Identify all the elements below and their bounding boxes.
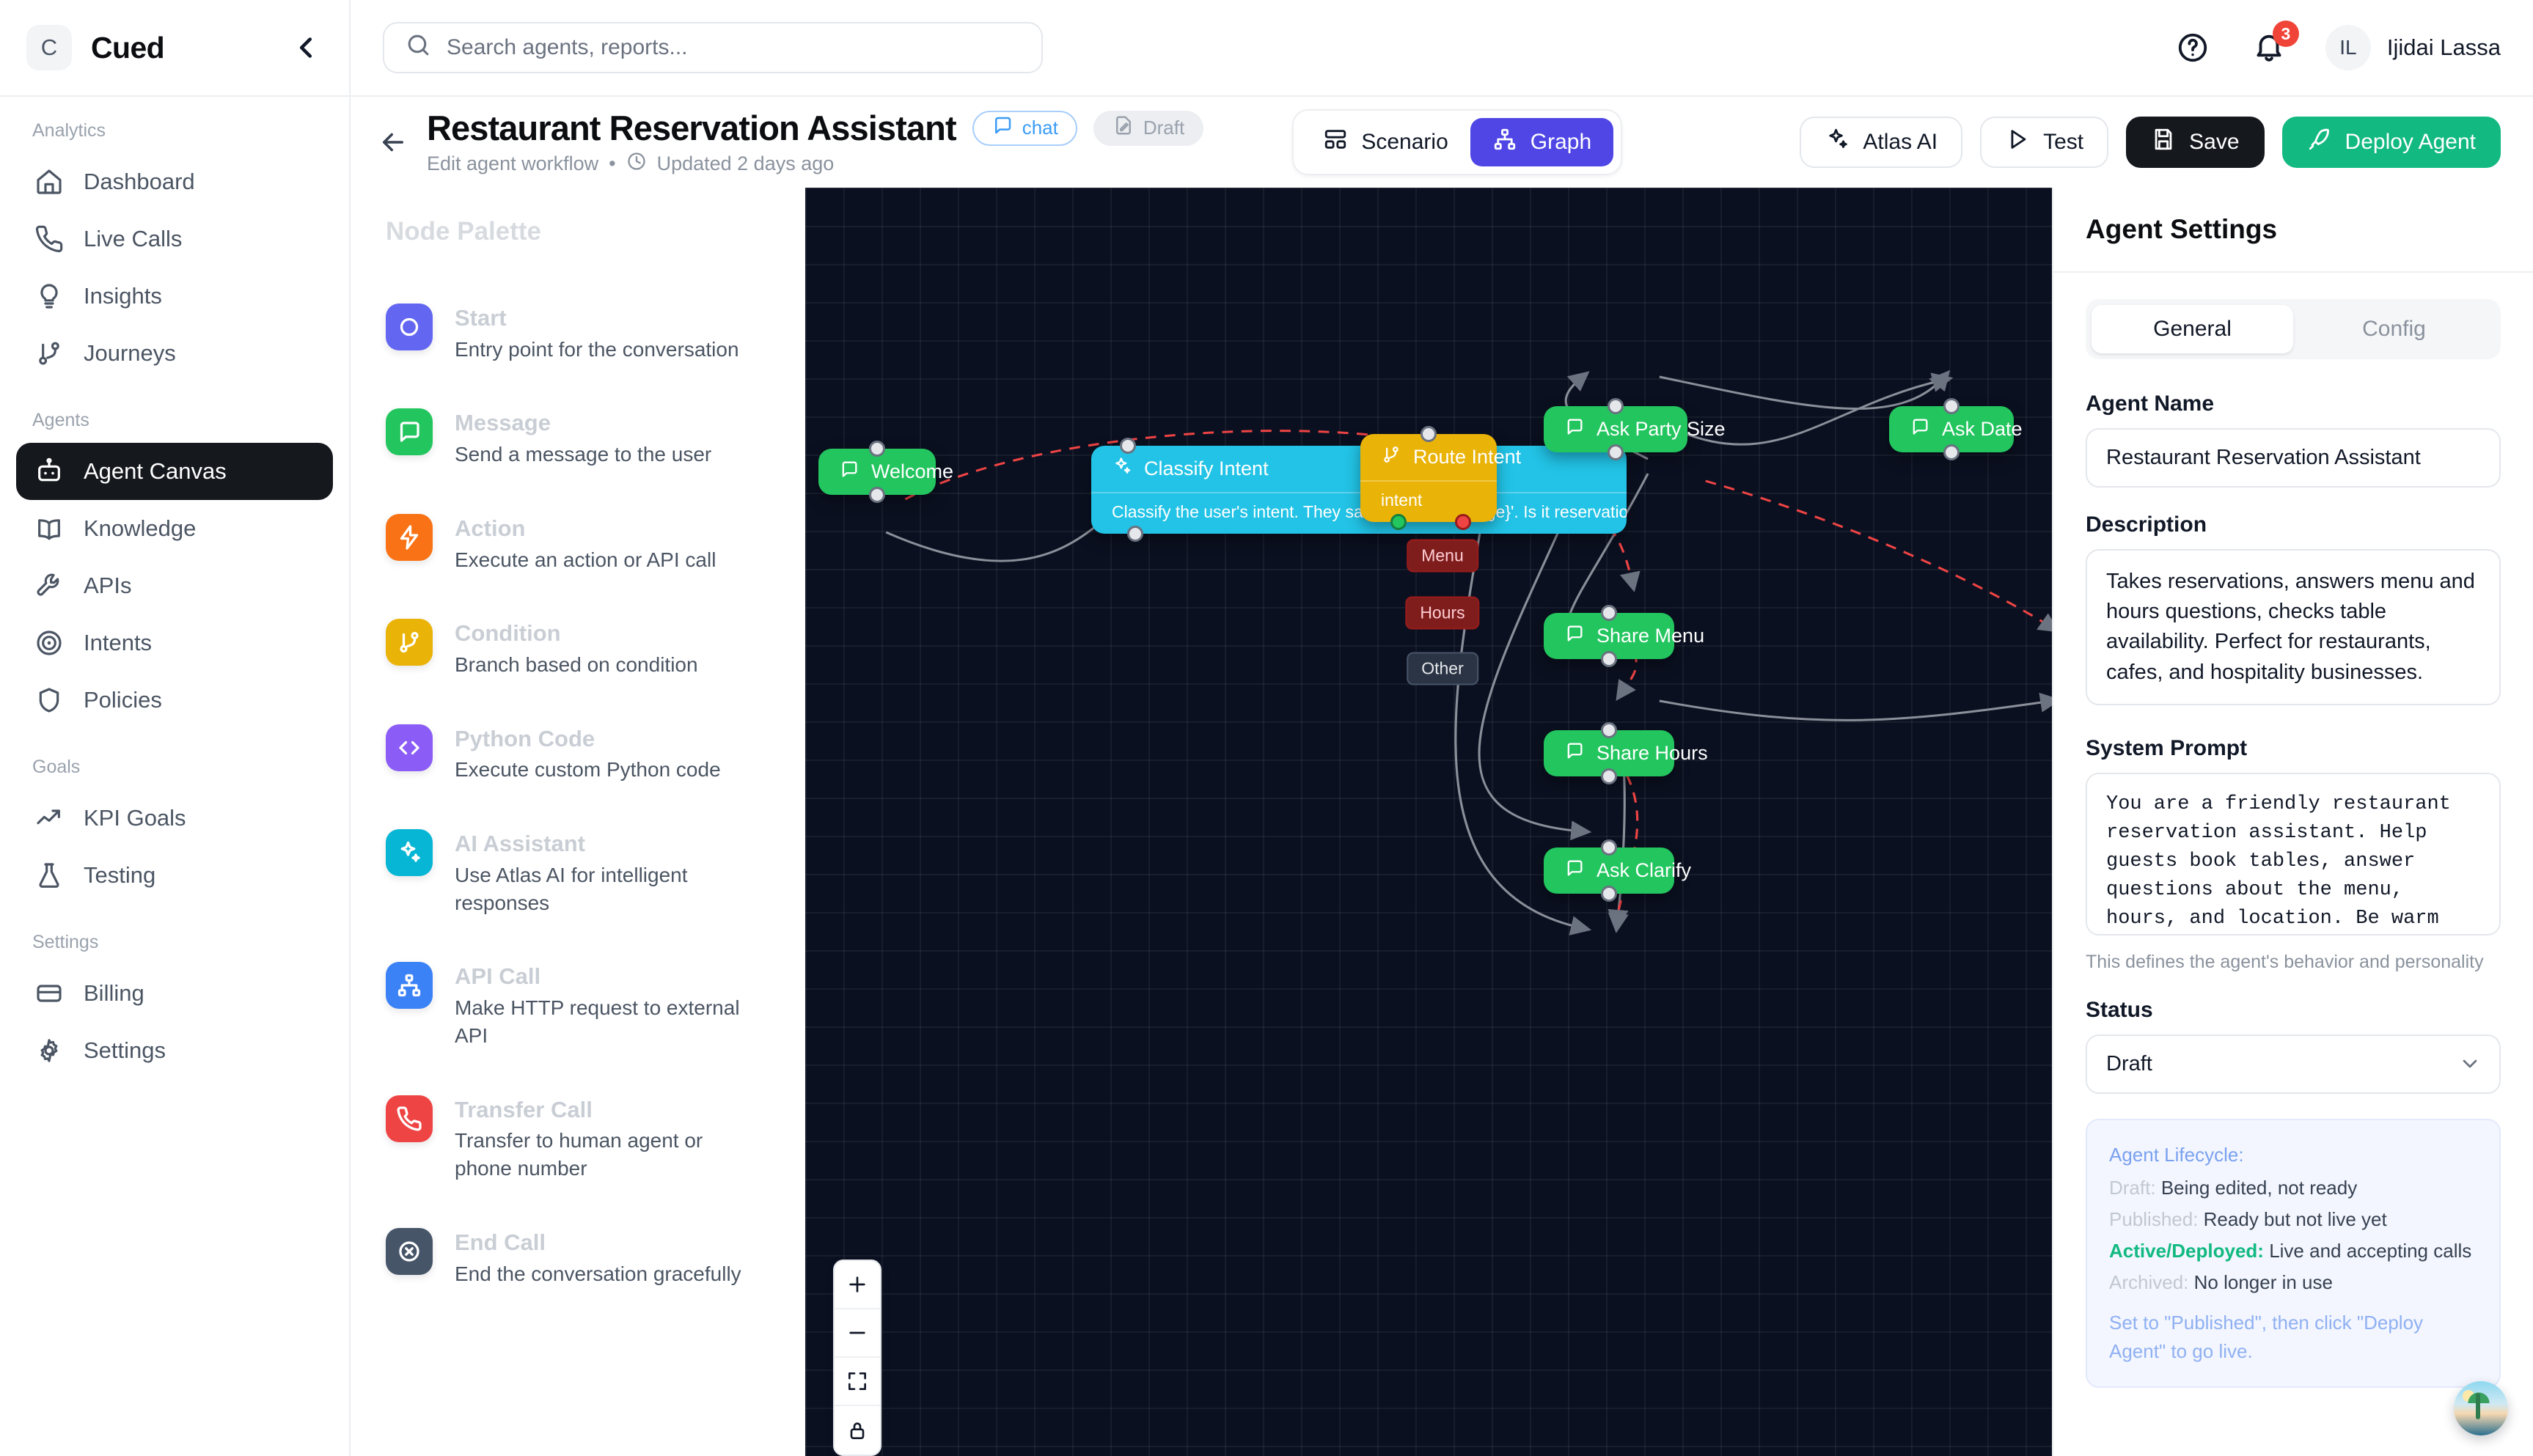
lifecycle-value: Being edited, not ready bbox=[2161, 1177, 2357, 1199]
bolt-icon bbox=[386, 514, 433, 561]
page-subtitle: Edit agent workflow • Updated 2 days ago bbox=[427, 151, 1203, 177]
palette-item-condition[interactable]: Condition Branch based on condition bbox=[386, 619, 773, 678]
node-title: Welcome bbox=[871, 460, 953, 483]
sidebar-item-journeys[interactable]: Journeys bbox=[16, 325, 333, 382]
lock-button[interactable] bbox=[835, 1406, 880, 1455]
system-prompt-textarea[interactable] bbox=[2086, 773, 2501, 935]
field-label: Agent Name bbox=[2086, 391, 2501, 416]
status-select[interactable] bbox=[2086, 1034, 2501, 1094]
sparkles-icon bbox=[386, 829, 433, 876]
chat-bubble-icon bbox=[1564, 858, 1585, 883]
atlas-ai-button[interactable]: Atlas AI bbox=[1800, 117, 1962, 168]
graph-node-ask-date[interactable]: Ask Date bbox=[1889, 406, 2014, 452]
robot-icon bbox=[34, 456, 65, 487]
palette-item-name: Transfer Call bbox=[455, 1097, 763, 1123]
user-name: Ijidai Lassa bbox=[2387, 34, 2501, 61]
edge-label-hours: Hours bbox=[1405, 597, 1479, 630]
layout-icon bbox=[1323, 127, 1348, 158]
main-area: Search agents, reports... 3 IL Ijidai La… bbox=[351, 0, 2533, 1456]
node-title: Ask Party Size bbox=[1597, 418, 1726, 441]
code-icon bbox=[386, 724, 433, 771]
git-branch-icon bbox=[1381, 444, 1401, 470]
palette-item-name: Condition bbox=[455, 620, 698, 647]
agent-settings-panel: Agent Settings General Config Agent Name… bbox=[2052, 188, 2533, 1456]
field-system-prompt: System Prompt This defines the agent's b… bbox=[2086, 736, 2501, 973]
palette-item-desc: Execute an action or API call bbox=[455, 546, 716, 574]
zoom-in-button[interactable] bbox=[835, 1261, 880, 1309]
topbar-right: 3 IL Ijidai Lassa bbox=[2173, 25, 2501, 70]
view-toggle: Scenario Graph bbox=[1292, 109, 1622, 175]
field-hint: This defines the agent's behavior and pe… bbox=[2086, 952, 2501, 973]
graph-canvas-wrapper: Welcome Classify Intent Clas bbox=[805, 188, 2052, 1456]
sidebar-item-apis[interactable]: APIs bbox=[16, 557, 333, 614]
graph-node-share-hours[interactable]: Share Hours bbox=[1544, 730, 1674, 776]
palette-item-name: Python Code bbox=[455, 726, 721, 752]
chat-bubble-icon bbox=[1564, 623, 1585, 649]
wrench-icon bbox=[34, 570, 65, 601]
test-button[interactable]: Test bbox=[1980, 117, 2108, 168]
node-input-port[interactable] bbox=[1421, 426, 1437, 442]
badge-label: chat bbox=[1022, 117, 1058, 139]
tab-config[interactable]: Config bbox=[2293, 305, 2495, 353]
shield-icon bbox=[34, 685, 65, 716]
palette-item-desc: Make HTTP request to external API bbox=[455, 994, 763, 1050]
sidebar-section-label: Analytics bbox=[16, 120, 333, 141]
lifecycle-row-archived: Archived: No longer in use bbox=[2109, 1268, 2477, 1297]
help-circle-icon[interactable] bbox=[2173, 28, 2213, 67]
sidebar-section-label: Agents bbox=[16, 410, 333, 431]
lightbulb-icon bbox=[34, 281, 65, 312]
agent-settings-body: General Config Agent Name Description Sy… bbox=[2053, 273, 2533, 1456]
palette-item-desc: Branch based on condition bbox=[455, 651, 698, 679]
page-header: Restaurant Reservation Assistant chat Dr… bbox=[351, 97, 2533, 188]
graph-node-welcome[interactable]: Welcome bbox=[818, 449, 936, 495]
field-status: Status bbox=[2086, 998, 2501, 1094]
node-output-port[interactable] bbox=[869, 487, 885, 503]
save-icon bbox=[2151, 127, 2176, 158]
bell-icon[interactable]: 3 bbox=[2249, 28, 2289, 67]
edge-label-menu: Menu bbox=[1407, 540, 1478, 573]
node-output-port-true[interactable] bbox=[1390, 514, 1407, 530]
palette-item-name: Action bbox=[455, 515, 716, 542]
circle-icon bbox=[386, 304, 433, 350]
lifecycle-row-draft: Draft: Being edited, not ready bbox=[2109, 1174, 2477, 1202]
topbar: Search agents, reports... 3 IL Ijidai La… bbox=[351, 0, 2533, 97]
notification-badge: 3 bbox=[2273, 21, 2299, 47]
node-output-port[interactable] bbox=[1601, 768, 1617, 784]
palette-item-desc: Send a message to the user bbox=[455, 441, 711, 468]
git-branch-icon bbox=[34, 338, 65, 369]
page-title: Restaurant Reservation Assistant bbox=[427, 108, 956, 148]
graph-node-ask-clarify[interactable]: Ask Clarify bbox=[1544, 848, 1674, 894]
palette-item-name: End Call bbox=[455, 1229, 741, 1256]
chat-bubble-icon bbox=[1564, 740, 1585, 766]
search-placeholder: Search agents, reports... bbox=[447, 35, 688, 60]
sidebar-item-label: Billing bbox=[84, 980, 144, 1007]
file-edit-icon bbox=[1112, 114, 1134, 141]
node-title: Ask Date bbox=[1942, 418, 2023, 441]
trending-up-icon bbox=[34, 803, 65, 834]
node-input-port[interactable] bbox=[1120, 438, 1136, 454]
sidebar-section-settings: Settings Billing Settings bbox=[16, 932, 333, 1079]
sidebar-item-intents[interactable]: Intents bbox=[16, 614, 333, 672]
palette-item-start[interactable]: Start Entry point for the conversation bbox=[386, 304, 773, 363]
node-body-text: Classify the user's intent. They said: '… bbox=[1091, 492, 1627, 534]
sidebar-item-policies[interactable]: Policies bbox=[16, 672, 333, 729]
palette-item-desc: Execute custom Python code bbox=[455, 756, 721, 784]
chat-bubble-icon bbox=[1564, 416, 1585, 442]
sidebar: C Cued Analytics Dashboard bbox=[0, 0, 351, 1456]
palette-item-name: AI Assistant bbox=[455, 831, 763, 857]
sidebar-item-label: Dashboard bbox=[84, 169, 195, 195]
updated-timestamp: Updated 2 days ago bbox=[657, 152, 835, 175]
node-input-port[interactable] bbox=[1601, 605, 1617, 621]
gear-icon bbox=[34, 1035, 65, 1066]
palette-item-message[interactable]: Message Send a message to the user bbox=[386, 408, 773, 468]
tab-scenario[interactable]: Scenario bbox=[1301, 118, 1470, 166]
agent-lifecycle-info: Agent Lifecycle: Draft: Being edited, no… bbox=[2086, 1119, 2501, 1388]
node-title: Share Menu bbox=[1597, 625, 1704, 647]
palette-item-desc: Use Atlas AI for intelligent responses bbox=[455, 861, 763, 917]
sidebar-section-goals: Goals KPI Goals Testing bbox=[16, 757, 333, 904]
node-input-port[interactable] bbox=[1608, 398, 1624, 414]
lifecycle-row-active: Active/Deployed: Live and accepting call… bbox=[2109, 1237, 2477, 1265]
lifecycle-value: No longer in use bbox=[2194, 1271, 2333, 1293]
sidebar-item-label: Agent Canvas bbox=[84, 458, 227, 485]
button-label: Test bbox=[2043, 130, 2083, 155]
node-input-port[interactable] bbox=[1601, 839, 1617, 856]
search-input[interactable]: Search agents, reports... bbox=[383, 22, 1043, 73]
sidebar-item-label: Settings bbox=[84, 1037, 166, 1064]
node-output-port-false[interactable] bbox=[1455, 514, 1471, 530]
canvas-controls bbox=[833, 1260, 881, 1456]
node-palette-title: Node Palette bbox=[386, 217, 773, 246]
graph-edges bbox=[805, 188, 2052, 1456]
settings-tabs: General Config bbox=[2086, 299, 2501, 359]
flask-icon bbox=[34, 860, 65, 891]
graph-canvas[interactable]: Welcome Classify Intent Clas bbox=[805, 188, 2052, 1456]
lifecycle-row-published: Published: Ready but not live yet bbox=[2109, 1205, 2477, 1234]
node-input-port[interactable] bbox=[1601, 722, 1617, 738]
tab-label: Scenario bbox=[1361, 130, 1448, 155]
palette-item-python-code[interactable]: Python Code Execute custom Python code bbox=[386, 724, 773, 784]
x-circle-icon bbox=[386, 1228, 433, 1275]
sidebar-item-agent-canvas[interactable]: Agent Canvas bbox=[16, 443, 333, 500]
sidebar-item-dashboard[interactable]: Dashboard bbox=[16, 153, 333, 210]
sidebar-item-settings[interactable]: Settings bbox=[16, 1022, 333, 1079]
rocket-icon bbox=[2307, 127, 2332, 158]
sidebar-item-label: Knowledge bbox=[84, 515, 196, 542]
sparkles-icon bbox=[1825, 127, 1850, 158]
field-description: Description bbox=[2086, 512, 2501, 711]
palette-item-name: Message bbox=[455, 410, 711, 436]
avatar: IL bbox=[2325, 25, 2371, 70]
sidebar-item-label: Testing bbox=[84, 862, 155, 889]
edge-label-other: Other bbox=[1407, 652, 1478, 685]
sidebar-section-label: Settings bbox=[16, 932, 333, 953]
sidebar-item-label: Insights bbox=[84, 283, 162, 309]
field-label: Status bbox=[2086, 998, 2501, 1023]
lifecycle-key: Active/Deployed: bbox=[2109, 1240, 2264, 1262]
sparkles-icon bbox=[1112, 456, 1132, 482]
support-widget-button[interactable] bbox=[2454, 1381, 2508, 1435]
play-icon bbox=[2005, 127, 2030, 158]
status-badge-draft: Draft bbox=[1093, 111, 1203, 146]
field-agent-name: Agent Name bbox=[2086, 391, 2501, 488]
tab-general[interactable]: General bbox=[2092, 305, 2293, 353]
lifecycle-note: Set to "Published", then click "Deploy A… bbox=[2109, 1309, 2477, 1366]
palette-item-name: API Call bbox=[455, 963, 763, 990]
content-area: Node Palette Start Entry point for the c… bbox=[351, 188, 2533, 1456]
palette-item-end-call[interactable]: End Call End the conversation gracefully bbox=[386, 1228, 773, 1287]
graph-node-classify-intent[interactable]: Classify Intent Classify the user's inte… bbox=[1091, 446, 1627, 534]
sidebar-item-label: Policies bbox=[84, 687, 162, 713]
brand-header: C Cued bbox=[0, 0, 349, 97]
graph-node-route-intent[interactable]: Route Intent intent bbox=[1360, 434, 1497, 522]
brand-logo: C bbox=[26, 25, 72, 70]
node-output-port[interactable] bbox=[1127, 526, 1143, 542]
git-branch-icon bbox=[386, 619, 433, 666]
palette-item-desc: Transfer to human agent or phone number bbox=[455, 1127, 763, 1183]
sidebar-item-label: Journeys bbox=[84, 340, 176, 367]
palette-item-desc: End the conversation gracefully bbox=[455, 1260, 741, 1288]
sidebar-item-insights[interactable]: Insights bbox=[16, 268, 333, 325]
tab-graph[interactable]: Graph bbox=[1470, 118, 1613, 166]
palette-item-desc: Entry point for the conversation bbox=[455, 336, 739, 364]
node-title: Ask Clarify bbox=[1597, 859, 1691, 882]
header-actions: Atlas AI Test Save bbox=[1800, 117, 2501, 168]
user-menu[interactable]: IL Ijidai Lassa bbox=[2325, 25, 2501, 70]
field-label: Description bbox=[2086, 512, 2501, 537]
palm-trunk-icon bbox=[2476, 1393, 2480, 1419]
sidebar-section-analytics: Analytics Dashboard Live Calls bbox=[16, 120, 333, 382]
node-output-port[interactable] bbox=[1601, 886, 1617, 902]
zoom-out-button[interactable] bbox=[835, 1309, 880, 1358]
node-input-port[interactable] bbox=[869, 441, 885, 457]
sidebar-item-kpi-goals[interactable]: KPI Goals bbox=[16, 790, 333, 847]
node-output-port[interactable] bbox=[1608, 444, 1624, 460]
phone-icon bbox=[34, 224, 65, 254]
chat-bubble-icon bbox=[839, 459, 859, 485]
description-textarea[interactable] bbox=[2086, 549, 2501, 705]
phone-icon bbox=[386, 1095, 433, 1142]
sitemap-icon bbox=[386, 962, 433, 1009]
sidebar-item-knowledge[interactable]: Knowledge bbox=[16, 500, 333, 557]
palette-item-api-call[interactable]: API Call Make HTTP request to external A… bbox=[386, 962, 773, 1049]
book-open-icon bbox=[34, 513, 65, 544]
graph-node-ask-party-size[interactable]: Ask Party Size bbox=[1544, 406, 1687, 452]
button-label: Save bbox=[2189, 130, 2239, 155]
button-label: Atlas AI bbox=[1863, 130, 1938, 155]
palette-item-transfer-call[interactable]: Transfer Call Transfer to human agent or… bbox=[386, 1095, 773, 1183]
node-title: Classify Intent bbox=[1144, 457, 1269, 480]
credit-card-icon bbox=[34, 978, 65, 1009]
lifecycle-key: Published: bbox=[2109, 1208, 2198, 1230]
chat-bubble-icon bbox=[386, 408, 433, 455]
node-input-port[interactable] bbox=[1943, 398, 1960, 414]
sidebar-item-label: Live Calls bbox=[84, 226, 182, 252]
lifecycle-key: Archived: bbox=[2109, 1271, 2188, 1293]
page-subtitle-text: Edit agent workflow bbox=[427, 152, 598, 175]
subtitle-separator: • bbox=[609, 152, 615, 175]
palette-item-name: Start bbox=[455, 305, 739, 331]
target-icon bbox=[34, 628, 65, 658]
graph-node-share-menu[interactable]: Share Menu bbox=[1544, 613, 1674, 659]
chevron-left-icon[interactable] bbox=[289, 31, 323, 65]
sidebar-item-testing[interactable]: Testing bbox=[16, 847, 333, 904]
search-icon bbox=[405, 32, 432, 65]
sidebar-section-agents: Agents Agent Canvas Knowledge bbox=[16, 410, 333, 729]
brand-name: Cued bbox=[91, 31, 164, 65]
node-palette: Node Palette Start Entry point for the c… bbox=[351, 188, 805, 1456]
sidebar-item-billing[interactable]: Billing bbox=[16, 965, 333, 1022]
sidebar-item-live-calls[interactable]: Live Calls bbox=[16, 210, 333, 268]
palette-item-action[interactable]: Action Execute an action or API call bbox=[386, 514, 773, 573]
arrow-left-icon[interactable] bbox=[373, 122, 414, 163]
chat-bubble-icon bbox=[1910, 416, 1930, 442]
node-output-port[interactable] bbox=[1601, 651, 1617, 667]
sidebar-item-label: APIs bbox=[84, 573, 131, 599]
tab-label: Graph bbox=[1531, 130, 1591, 155]
agent-name-input[interactable] bbox=[2086, 428, 2501, 488]
app-root: C Cued Analytics Dashboard bbox=[0, 0, 2533, 1456]
lifecycle-value: Live and accepting calls bbox=[2269, 1240, 2471, 1262]
field-label: System Prompt bbox=[2086, 736, 2501, 761]
home-icon bbox=[34, 166, 65, 197]
palette-item-ai-assistant[interactable]: AI Assistant Use Atlas AI for intelligen… bbox=[386, 829, 773, 916]
page-title-block: Restaurant Reservation Assistant chat Dr… bbox=[427, 108, 1203, 177]
node-title: Route Intent bbox=[1413, 446, 1521, 468]
save-button[interactable]: Save bbox=[2126, 117, 2264, 168]
sitemap-icon bbox=[1492, 127, 1517, 158]
fit-view-button[interactable] bbox=[835, 1358, 880, 1406]
node-output-port[interactable] bbox=[1943, 444, 1960, 460]
sidebar-section-label: Goals bbox=[16, 757, 333, 778]
sidebar-nav: Analytics Dashboard Live Calls bbox=[0, 97, 349, 1456]
sidebar-item-label: Intents bbox=[84, 630, 152, 656]
status-badge-channel: chat bbox=[972, 111, 1077, 146]
badge-label: Draft bbox=[1143, 117, 1184, 139]
agent-settings-header: Agent Settings bbox=[2053, 188, 2533, 273]
lifecycle-key: Draft: bbox=[2109, 1177, 2156, 1199]
node-title: Share Hours bbox=[1597, 742, 1708, 765]
lifecycle-value: Ready but not live yet bbox=[2204, 1208, 2387, 1230]
chat-bubble-icon bbox=[991, 114, 1013, 141]
sidebar-item-label: KPI Goals bbox=[84, 805, 186, 831]
lifecycle-title: Agent Lifecycle: bbox=[2109, 1141, 2477, 1169]
node-body-text: intent bbox=[1360, 480, 1497, 522]
panel-title: Agent Settings bbox=[2086, 214, 2501, 245]
clock-icon bbox=[626, 151, 647, 177]
deploy-agent-button[interactable]: Deploy Agent bbox=[2282, 117, 2501, 168]
button-label: Deploy Agent bbox=[2345, 130, 2476, 155]
